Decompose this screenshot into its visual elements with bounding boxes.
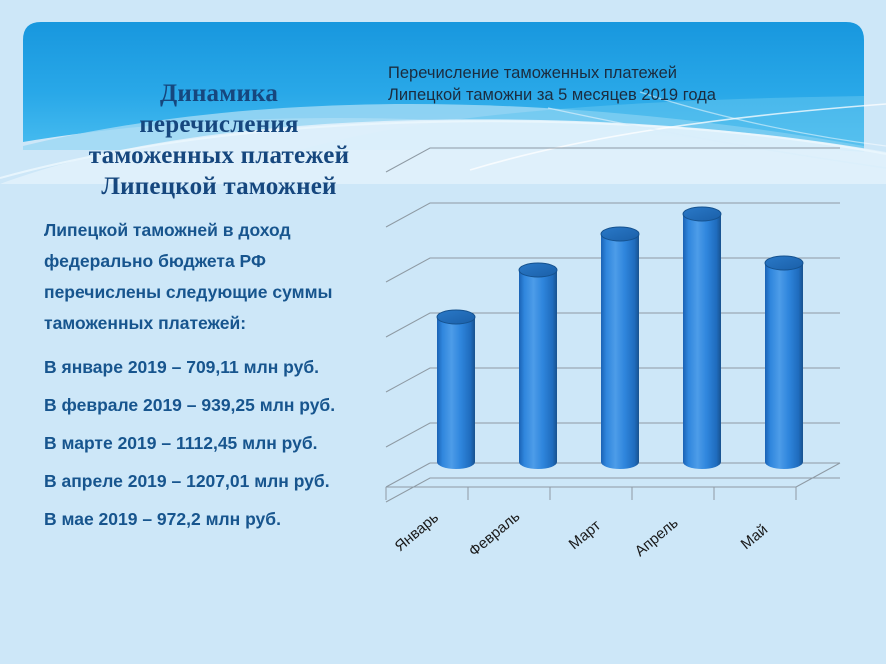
intro-line-4: таможенных платежей: xyxy=(44,311,394,336)
slide-canvas: Динамика перечисления таможенных платеже… xyxy=(0,0,886,664)
page-title-line-4: Липецкой таможней xyxy=(44,171,394,202)
left-text-column: Динамика перечисления таможенных платеже… xyxy=(44,78,394,532)
x-label-february: Февраль xyxy=(466,508,524,560)
page-title-line-2: перечисления xyxy=(44,109,394,140)
intro-line-3: перечислены следующие суммы xyxy=(44,280,394,305)
chart-plot-area: Январь Февраль Март Апрель Май xyxy=(378,52,878,612)
bar-january[interactable] xyxy=(437,310,475,469)
month-value-april: В апреле 2019 – 1207,01 млн руб. xyxy=(44,456,394,494)
bar-may[interactable] xyxy=(765,256,803,469)
bar-march[interactable] xyxy=(601,227,639,469)
page-title-line-3: таможенных платежей xyxy=(44,140,394,171)
bar-chart: Перечисление таможенных платежей Липецко… xyxy=(378,52,878,612)
month-value-may: В мае 2019 – 972,2 млн руб. xyxy=(44,494,394,532)
x-label-may: Май xyxy=(738,521,771,553)
x-label-april: Апрель xyxy=(632,514,682,560)
bar-april[interactable] xyxy=(683,207,721,469)
x-label-january: Январь xyxy=(392,509,442,555)
x-label-march: Март xyxy=(566,517,605,553)
body-text-block: Липецкой таможней в доход федерально бюд… xyxy=(44,218,394,532)
page-title: Динамика перечисления таможенных платеже… xyxy=(44,78,394,202)
month-value-february: В феврале 2019 – 939,25 млн руб. xyxy=(44,380,394,418)
intro-line-1: Липецкой таможней в доход xyxy=(44,218,394,243)
month-value-march: В марте 2019 – 1112,45 млн руб. xyxy=(44,418,394,456)
chart-x-ticks xyxy=(386,487,796,500)
bar-february[interactable] xyxy=(519,263,557,469)
month-value-january: В январе 2019 – 709,11 млн руб. xyxy=(44,342,394,380)
page-title-line-1: Динамика xyxy=(44,78,394,109)
intro-line-2: федерально бюджета РФ xyxy=(44,249,394,274)
